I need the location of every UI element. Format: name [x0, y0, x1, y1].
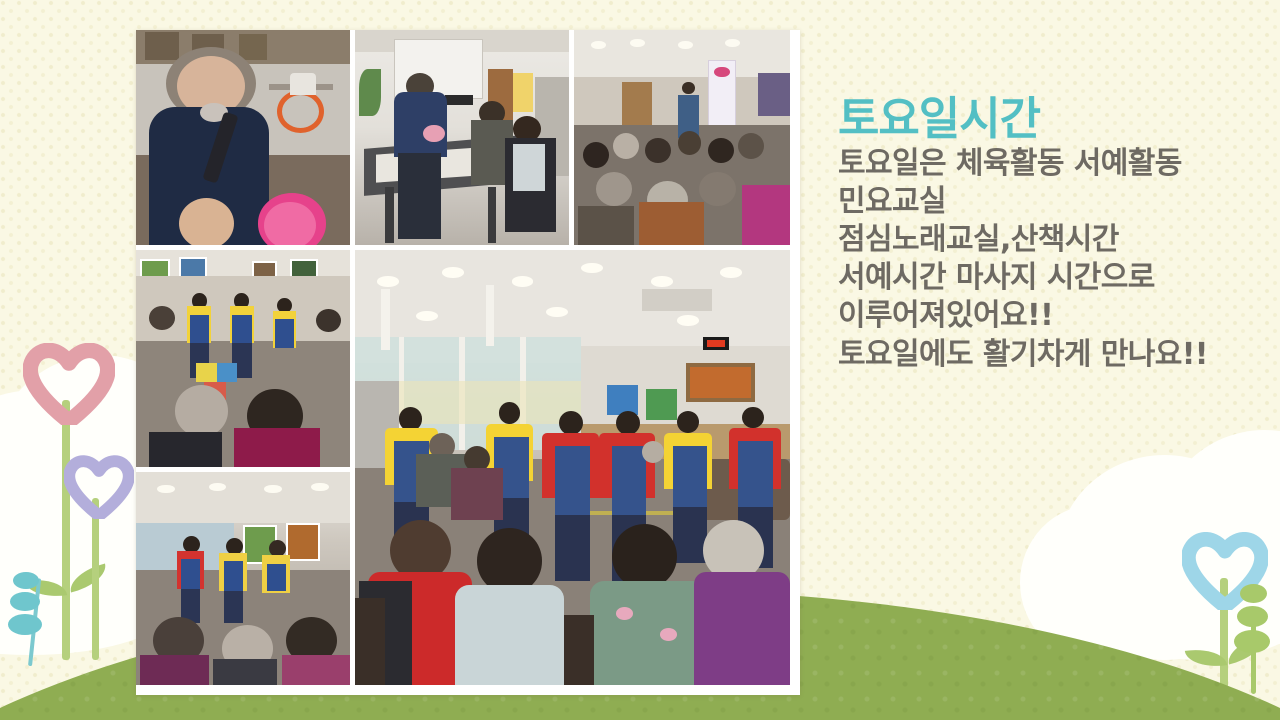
body-line-5: 이루어져있어요!!: [838, 297, 1268, 335]
body-line-6: 토요일에도 활기차게 만나요!!: [838, 336, 1268, 374]
photo-exercise-circle-activity: [136, 250, 350, 467]
body-line-2: 민요교실: [838, 183, 1268, 221]
bubble-petal: [1237, 606, 1268, 627]
flower-stem: [62, 400, 70, 660]
text-panel: 토요일시간 토요일은 체육활동 서예활동 민요교실 점심노래교실,산책시간 서예…: [838, 92, 1268, 374]
photo-calligraphy-class-table: [355, 30, 569, 245]
body-line-1: 토요일은 체육활동 서예활동: [838, 145, 1268, 183]
flower-stem: [92, 498, 99, 660]
bubble-petal: [8, 614, 42, 635]
page-title: 토요일시간: [838, 92, 1268, 145]
bubble-petal: [1240, 584, 1267, 603]
photo-collage: [136, 30, 800, 695]
purple-heart-flower-icon: [64, 455, 134, 519]
bubble-petal: [1234, 630, 1270, 653]
body-line-3: 점심노래교실,산책시간: [838, 221, 1268, 259]
photo-staff-dance-performance: [136, 472, 350, 685]
photo-senior-singing-microphone: [136, 30, 350, 245]
bubble-petal: [13, 572, 39, 589]
bubble-petal: [10, 592, 40, 611]
pink-heart-flower-icon: [23, 343, 115, 425]
photo-main-group-dance-hall: [355, 250, 790, 685]
photo-folk-song-class-audience: [574, 30, 790, 245]
slide-canvas: 토요일시간 토요일은 체육활동 서예활동 민요교실 점심노래교실,산책시간 서예…: [0, 0, 1280, 720]
body-line-4: 서예시간 마사지 시간으로: [838, 259, 1268, 297]
